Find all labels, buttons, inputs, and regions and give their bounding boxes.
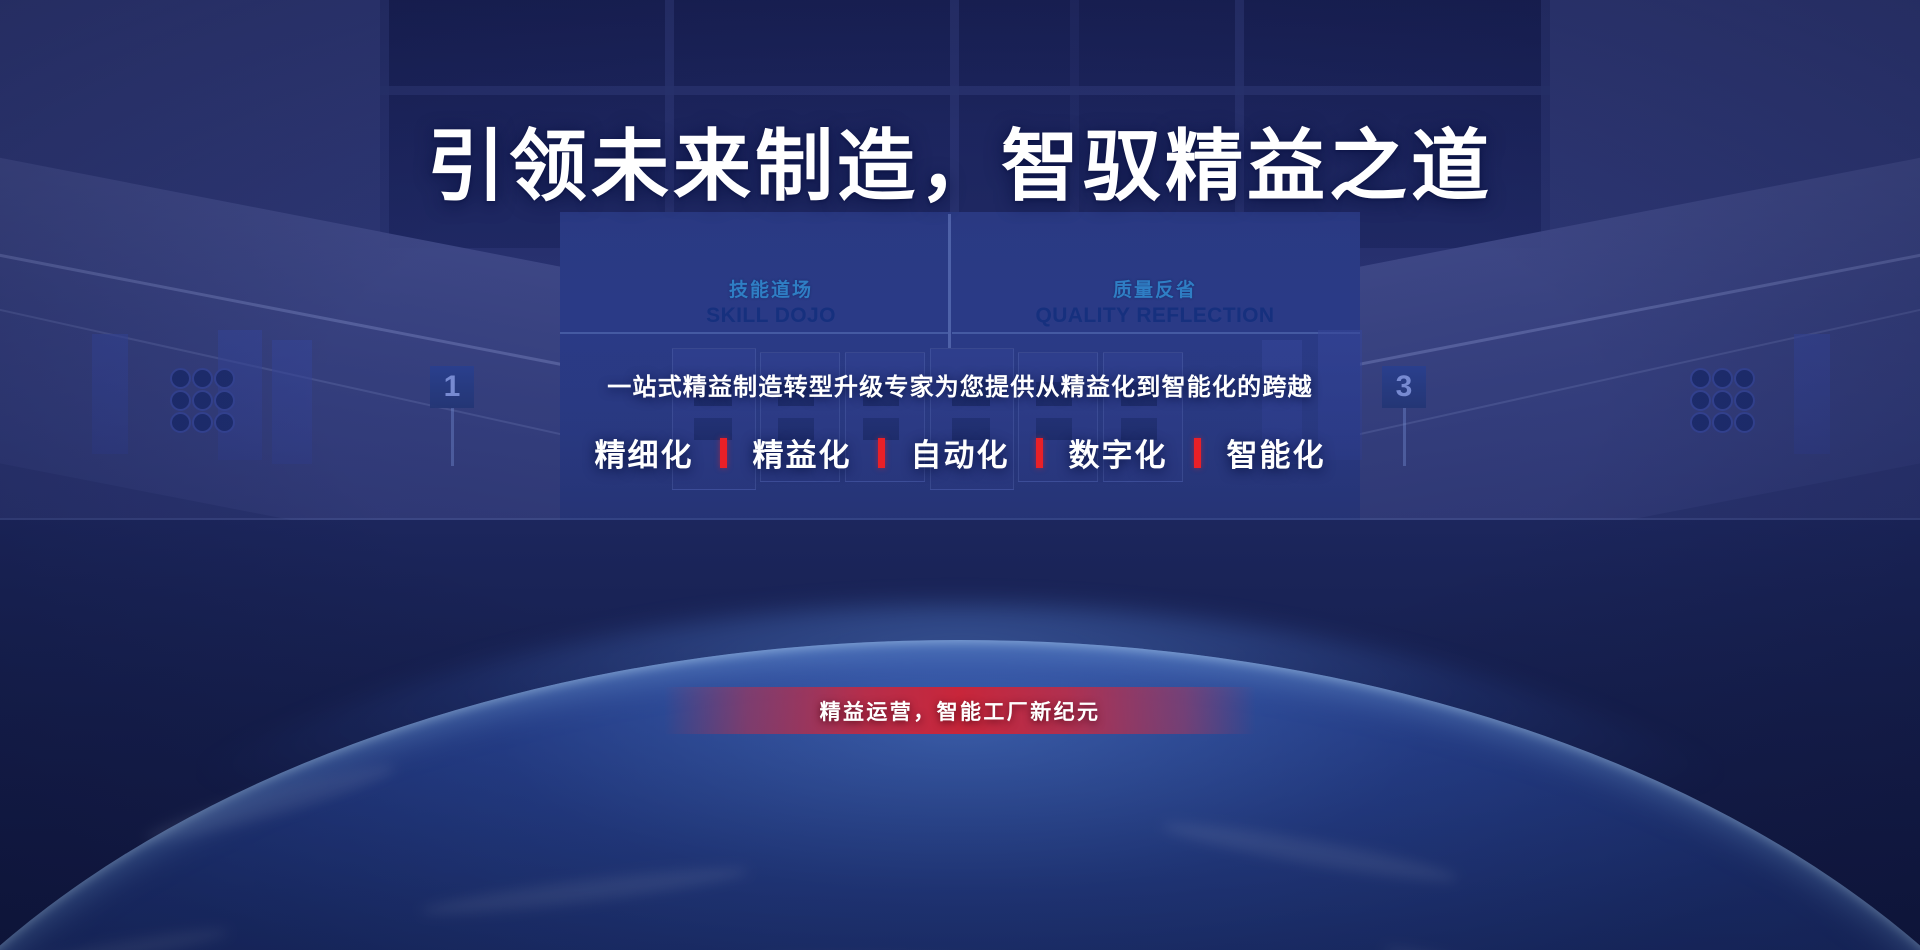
page-title: 引领未来制造，智驭精益之道	[0, 124, 1920, 208]
tagline-ribbon: 精益运营，智能工厂新纪元	[664, 687, 1256, 734]
keyword-separator-icon	[878, 438, 885, 468]
banner-stage: 技能道场 SKILL DOJO 质量反省 QUALITY REFLECTION …	[0, 0, 1920, 950]
keyword-item: 智能化	[1201, 430, 1352, 475]
banner-content: 引领未来制造，智驭精益之道 一站式精益制造转型升级专家为您提供从精益化到智能化的…	[0, 0, 1920, 950]
page-subtitle: 一站式精益制造转型升级专家为您提供从精益化到智能化的跨越	[0, 367, 1920, 402]
tagline-text: 精益运营，智能工厂新纪元	[820, 696, 1101, 726]
keyword-item: 精细化	[569, 430, 720, 475]
keyword-item: 数字化	[1043, 430, 1194, 475]
keyword-separator-icon	[1036, 438, 1043, 468]
keyword-separator-icon	[720, 438, 727, 468]
keyword-item: 自动化	[885, 430, 1036, 475]
keyword-list: 精细化 精益化 自动化 数字化 智能化	[0, 430, 1920, 475]
keyword-separator-icon	[1194, 438, 1201, 468]
keyword-item: 精益化	[727, 430, 878, 475]
